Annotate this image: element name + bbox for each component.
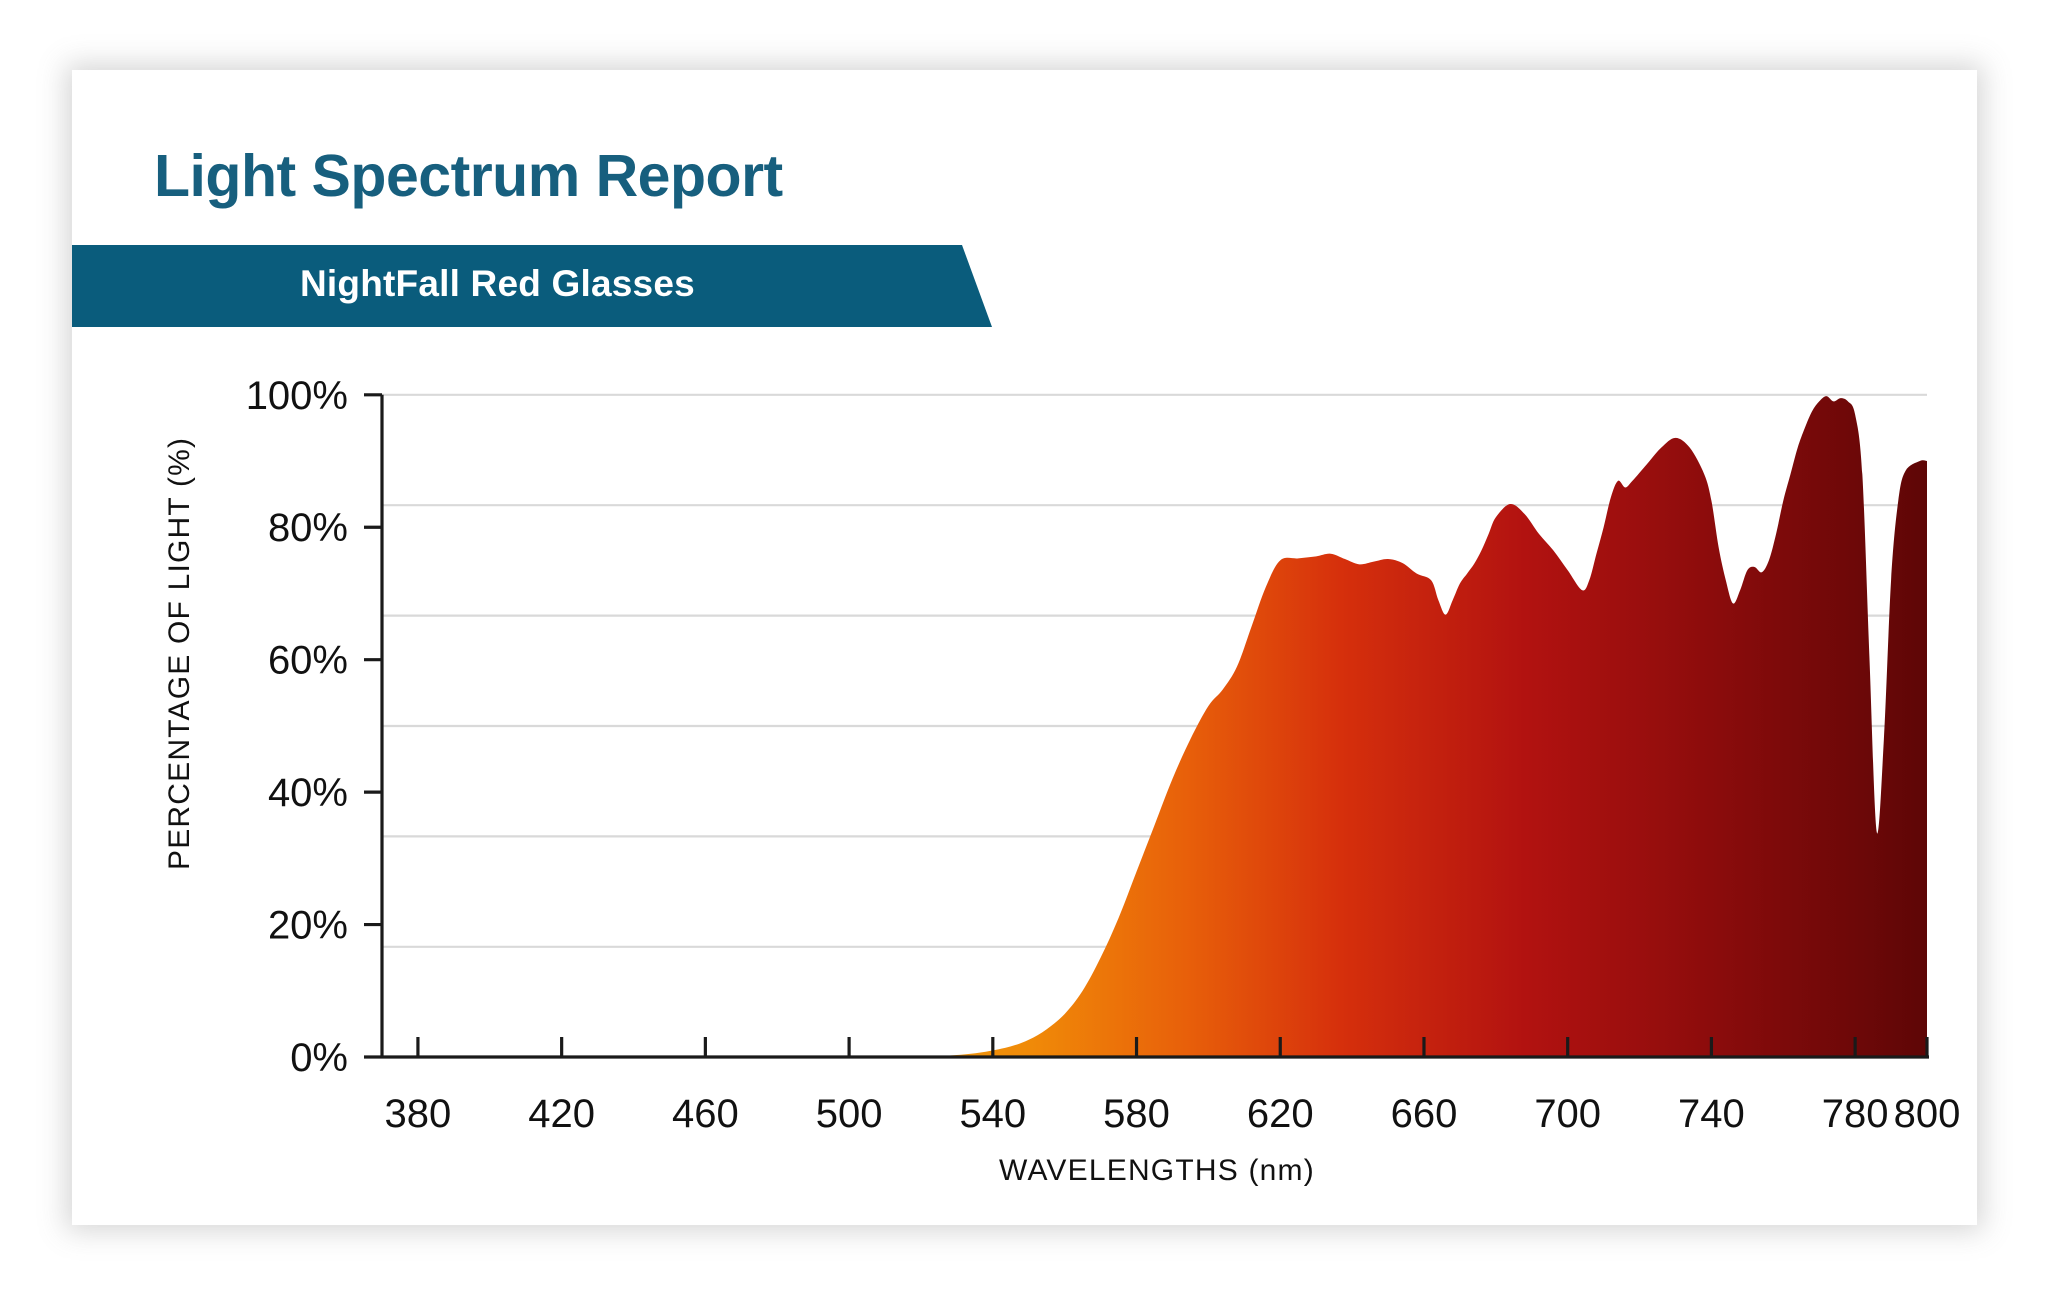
x-tick-label: 740 <box>1678 1092 1745 1136</box>
spectrum-chart: 0%20%40%60%80%100% 380420460500540580620… <box>72 310 1977 1190</box>
x-tick-label: 380 <box>385 1092 452 1136</box>
subtitle-label: NightFall Red Glasses <box>300 263 695 305</box>
y-tick-label: 80% <box>268 506 348 550</box>
x-tick-label: 800 <box>1894 1092 1961 1136</box>
report-card: Light Spectrum Report NightFall Red Glas… <box>72 70 1977 1225</box>
y-axis-title: PERCENTAGE OF LIGHT (%) <box>163 437 196 870</box>
x-tick-label: 620 <box>1247 1092 1314 1136</box>
x-tick-label: 580 <box>1103 1092 1170 1136</box>
page-title: Light Spectrum Report <box>154 142 783 210</box>
x-tick-label: 780 <box>1822 1092 1889 1136</box>
y-tick-label: 0% <box>290 1036 348 1080</box>
x-axis-title: WAVELENGTHS (nm) <box>999 1154 1315 1187</box>
x-tick-label: 420 <box>528 1092 595 1136</box>
spectrum-chart-svg: 0%20%40%60%80%100% 380420460500540580620… <box>72 310 1977 1190</box>
y-tick-label: 60% <box>268 639 348 683</box>
y-tick-label: 40% <box>268 771 348 815</box>
x-tick-labels: 380420460500540580620660700740780800 <box>385 1092 1961 1136</box>
y-tick-label: 100% <box>246 374 348 418</box>
x-tick-label: 500 <box>816 1092 883 1136</box>
y-tick-label: 20% <box>268 904 348 948</box>
x-tick-label: 540 <box>959 1092 1026 1136</box>
report-canvas: Light Spectrum Report NightFall Red Glas… <box>0 0 2048 1302</box>
y-tick-marks <box>364 395 382 1057</box>
y-tick-labels: 0%20%40%60%80%100% <box>246 374 348 1080</box>
x-tick-label: 460 <box>672 1092 739 1136</box>
x-tick-label: 660 <box>1391 1092 1458 1136</box>
x-tick-label: 700 <box>1534 1092 1601 1136</box>
